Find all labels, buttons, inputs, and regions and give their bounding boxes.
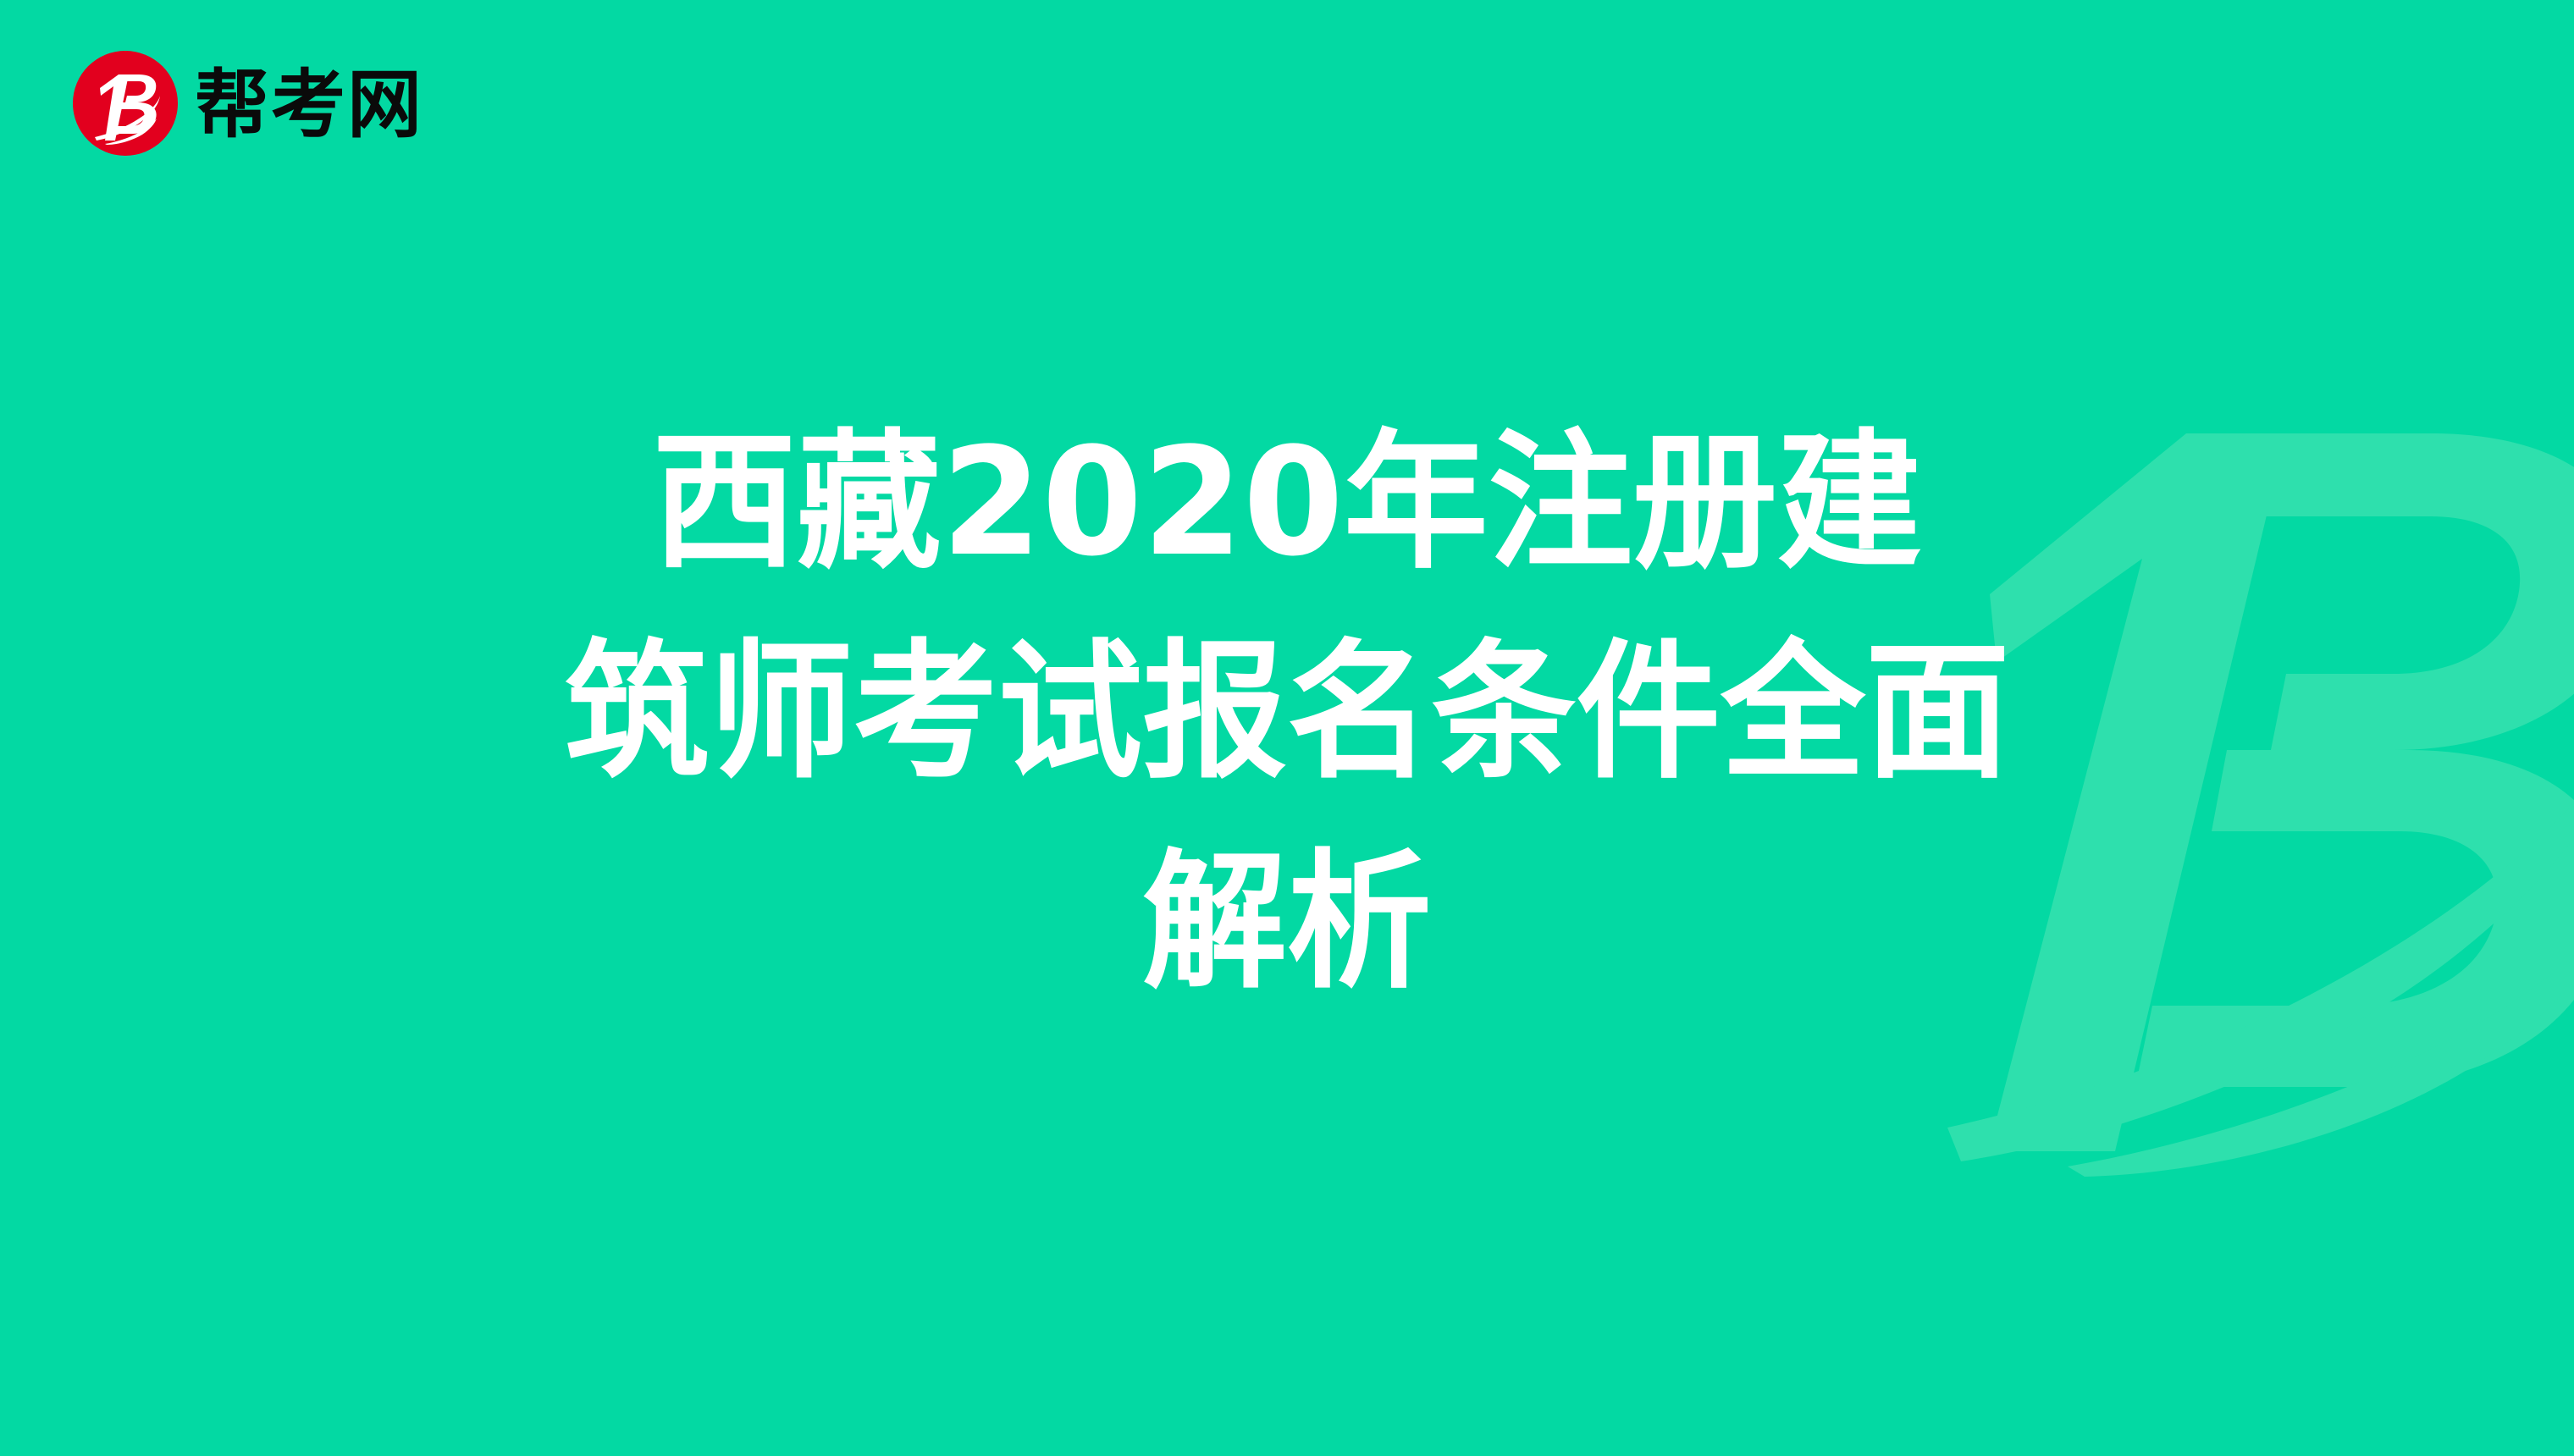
brand-name-label: 帮考网 bbox=[195, 68, 423, 142]
page-title-line-2: 筑师考试报名条件全面 bbox=[129, 608, 2444, 818]
page-title-line-3: 解析 bbox=[129, 818, 2444, 1028]
brand-logo[interactable]: 帮考网 bbox=[71, 49, 423, 157]
cover-canvas: 帮考网 西藏2020年注册建 筑师考试报名条件全面 解析 bbox=[0, 0, 2574, 1456]
bangkao-b-badge-icon bbox=[71, 49, 180, 157]
page-title: 西藏2020年注册建 筑师考试报名条件全面 解析 bbox=[0, 398, 2574, 1028]
page-title-line-1: 西藏2020年注册建 bbox=[129, 398, 2444, 608]
